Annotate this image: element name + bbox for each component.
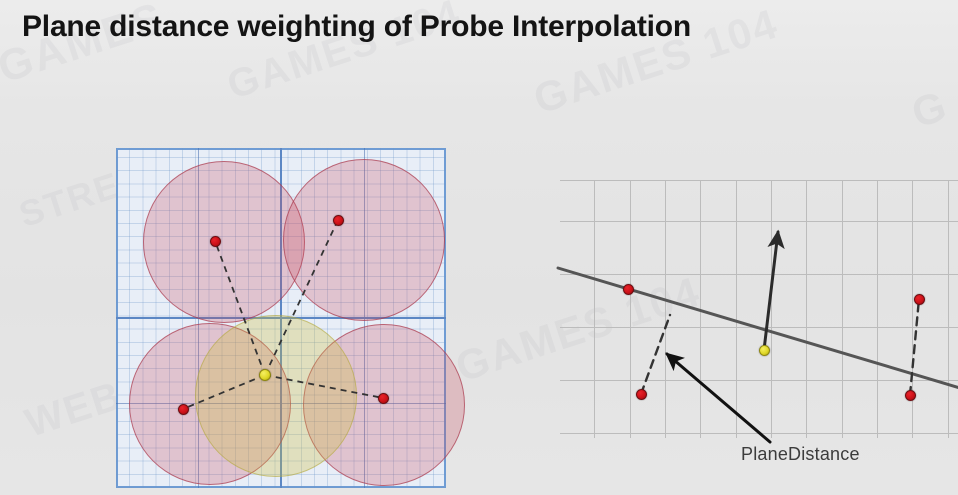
- sample-point-center: [259, 369, 271, 381]
- plane-distance-line-right: [910, 299, 919, 395]
- probe-point-bottom-left: [178, 404, 189, 415]
- probe-point-top-left: [210, 236, 221, 247]
- watermark-text: G: [906, 81, 954, 137]
- sample-point-on-plane: [759, 345, 770, 356]
- plane-distance-vectors: [560, 180, 958, 438]
- probe-weight-lines: [116, 148, 446, 488]
- probe-point-bottom-right: [378, 393, 389, 404]
- watermark-text: WEB: [20, 373, 128, 446]
- surface-plane-line: [558, 268, 958, 388]
- page-title: Plane distance weighting of Probe Interp…: [22, 10, 691, 44]
- weight-line-top-left: [215, 241, 265, 375]
- slide-canvas: GAMESGAMES 104GAMES 104GSTREAMGAMES 104W…: [0, 0, 958, 495]
- weight-line-bottom-left: [183, 375, 265, 409]
- probe-point-upper-right: [914, 294, 925, 305]
- probe-grid-diagram: [116, 148, 446, 488]
- plane-distance-callout-arrow: [667, 354, 770, 442]
- weight-line-top-right: [265, 220, 338, 375]
- weight-line-bottom-right: [265, 375, 383, 398]
- probe-point-lower-left: [636, 389, 647, 400]
- probe-point-top-right: [333, 215, 344, 226]
- plane-distance-label: PlaneDistance: [741, 444, 860, 465]
- plane-distance-diagram: [560, 180, 958, 438]
- probe-point-upper-left: [623, 284, 634, 295]
- probe-point-lower-right: [905, 390, 916, 401]
